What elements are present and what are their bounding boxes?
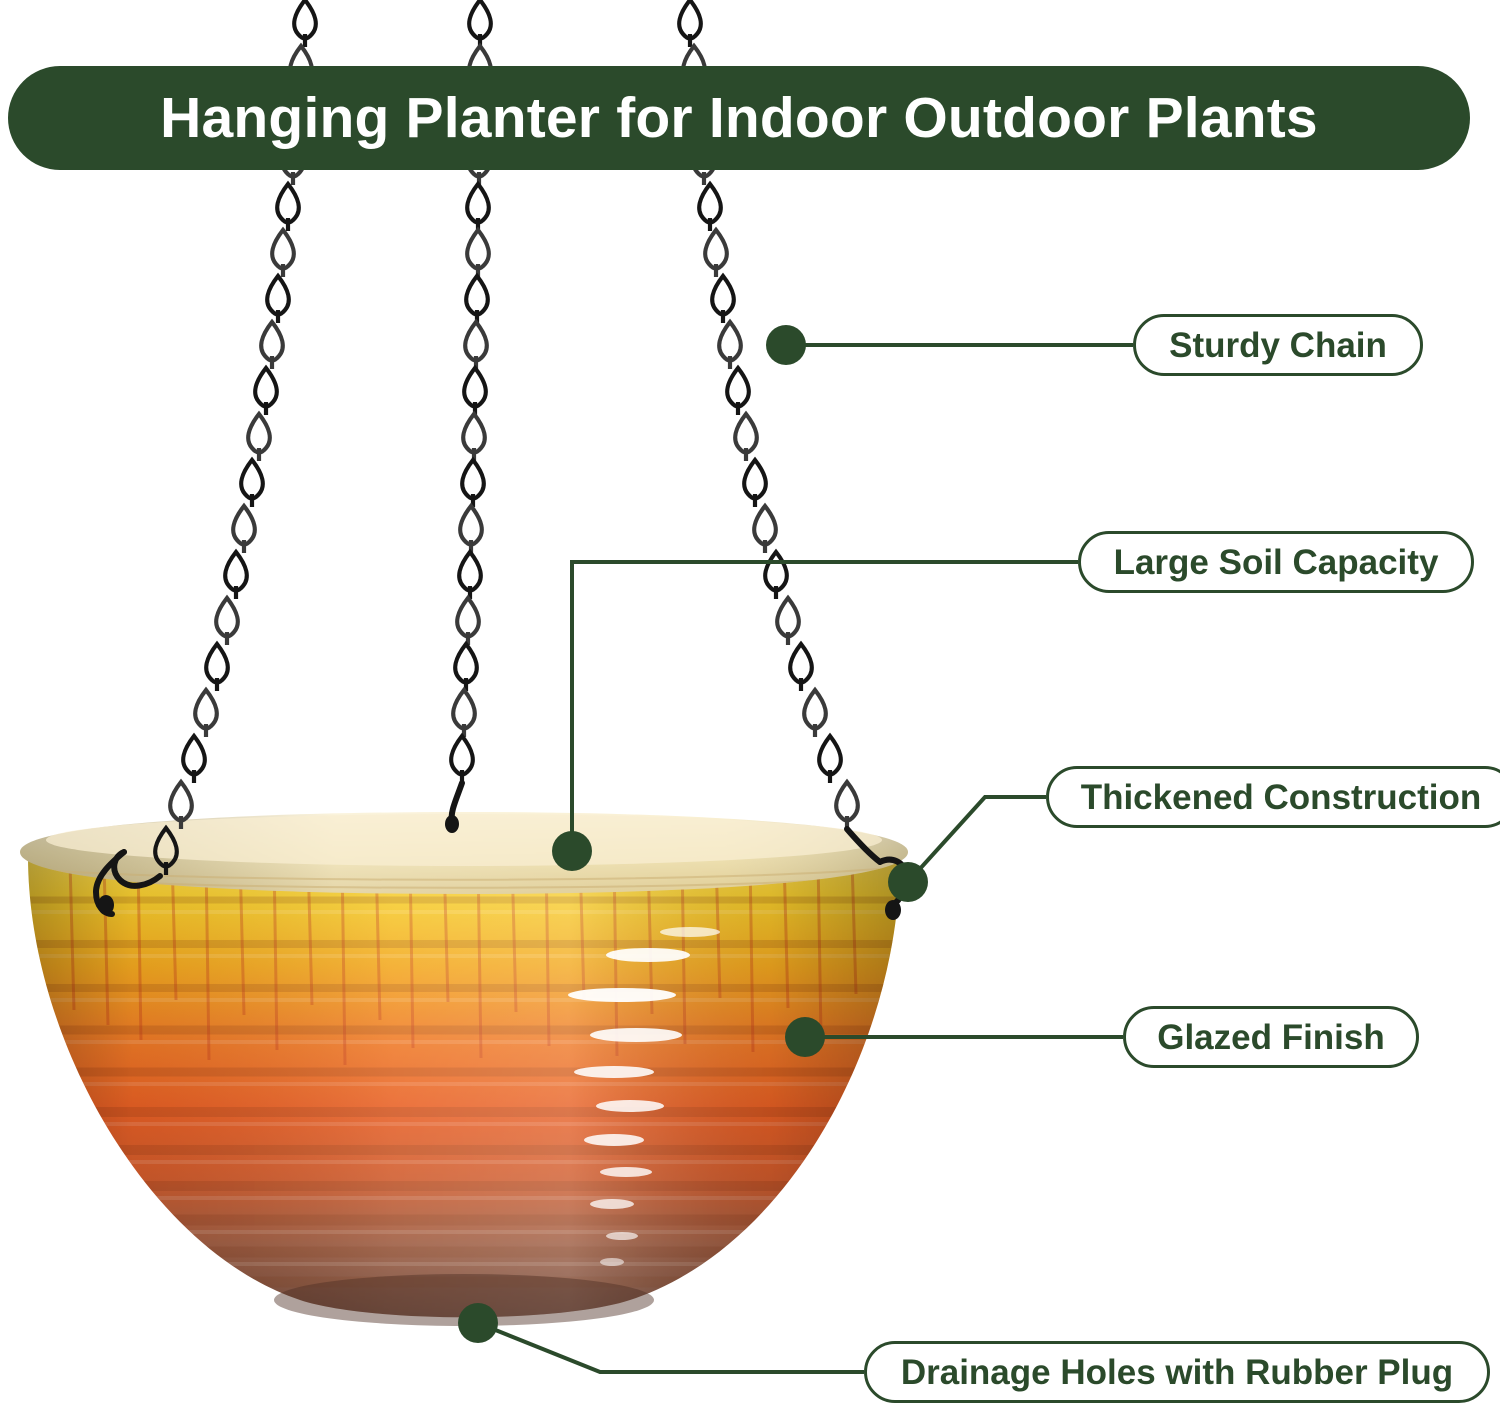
callout-label-glazed-finish: Glazed Finish <box>1157 1020 1385 1055</box>
callout-dot-drainage-holes-rubber-plug[interactable] <box>458 1303 498 1343</box>
leader-line-drainage-holes-rubber-plug <box>478 1323 864 1372</box>
callout-glazed-finish[interactable]: Glazed Finish <box>1123 1006 1419 1068</box>
callout-dot-thickened-construction[interactable] <box>888 862 928 902</box>
callout-dot-glazed-finish[interactable] <box>785 1017 825 1057</box>
callout-large-soil-capacity[interactable]: Large Soil Capacity <box>1078 531 1474 593</box>
page-title-banner: Hanging Planter for Indoor Outdoor Plant… <box>8 66 1470 170</box>
page-title: Hanging Planter for Indoor Outdoor Plant… <box>160 90 1318 147</box>
callout-dot-large-soil-capacity[interactable] <box>552 831 592 871</box>
callout-label-thickened-construction: Thickened Construction <box>1081 780 1482 815</box>
callout-label-drainage-holes: Drainage Holes with Rubber Plug <box>901 1355 1453 1390</box>
infographic-canvas: Hanging Planter for Indoor Outdoor Plant… <box>0 0 1500 1403</box>
callout-label-sturdy-chain: Sturdy Chain <box>1169 328 1387 363</box>
leader-line-large-soil-capacity <box>572 562 1078 851</box>
leader-line-thickened-construction <box>908 797 1046 882</box>
callout-dot-sturdy-chain[interactable] <box>766 325 806 365</box>
callout-label-large-soil-capacity: Large Soil Capacity <box>1114 545 1439 580</box>
callout-leader-lines <box>0 0 1500 1403</box>
callout-sturdy-chain[interactable]: Sturdy Chain <box>1133 314 1423 376</box>
callout-drainage-holes[interactable]: Drainage Holes with Rubber Plug <box>864 1341 1490 1403</box>
callout-thickened-construction[interactable]: Thickened Construction <box>1046 766 1500 828</box>
